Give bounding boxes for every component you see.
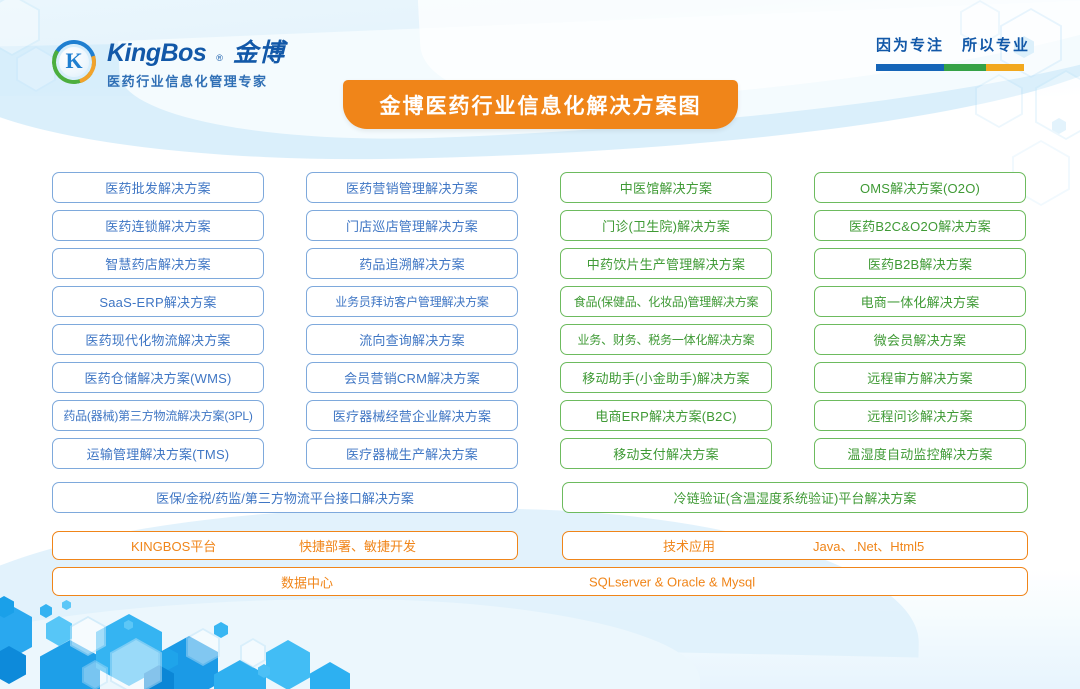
solution-cell-wide[interactable]: 冷链验证(含温湿度系统验证)平台解决方案: [562, 482, 1028, 513]
solution-map-poster: K KingBos ® 金博 医药行业信息化管理专家 因为专注 所以专业 金博医…: [0, 0, 1080, 689]
solution-cell[interactable]: 远程问诊解决方案: [814, 400, 1026, 431]
solution-cell[interactable]: 业务员拜访客户管理解决方案: [306, 286, 518, 317]
foundation-row-1: KINGBOS平台 快捷部署、敏捷开发 技术应用 Java、.Net、Html5: [52, 531, 1028, 560]
solution-cell[interactable]: SaaS-ERP解决方案: [52, 286, 264, 317]
solution-cell[interactable]: 电商一体化解决方案: [814, 286, 1026, 317]
slogan-part-1: 因为专注: [876, 34, 944, 55]
solution-cell[interactable]: 门诊(卫生院)解决方案: [560, 210, 772, 241]
kingbos-logo-icon: K: [52, 40, 96, 84]
solution-cell[interactable]: 医药B2B解决方案: [814, 248, 1026, 279]
solution-cell[interactable]: 医药仓储解决方案(WMS): [52, 362, 264, 393]
solution-cell[interactable]: 智慧药店解决方案: [52, 248, 264, 279]
solution-cell[interactable]: 电商ERP解决方案(B2C): [560, 400, 772, 431]
solution-cell[interactable]: 医药现代化物流解决方案: [52, 324, 264, 355]
solution-cell[interactable]: 药品(器械)第三方物流解决方案(3PL): [52, 400, 264, 431]
solution-cell[interactable]: 医药批发解决方案: [52, 172, 264, 203]
slogan-block: 因为专注 所以专业: [876, 34, 1030, 71]
brand-name-latin: KingBos: [107, 39, 206, 68]
slogan-part-2: 所以专业: [962, 34, 1030, 55]
foundation-label: 数据中心: [281, 572, 333, 591]
page-title-banner: 金博医药行业信息化解决方案图: [343, 80, 738, 129]
solution-cell[interactable]: 医药营销管理解决方案: [306, 172, 518, 203]
foundation-value: 快捷部署、敏捷开发: [299, 536, 416, 555]
foundation-label: 技术应用: [663, 536, 715, 555]
solution-cell[interactable]: 会员营销CRM解决方案: [306, 362, 518, 393]
solution-cell[interactable]: 食品(保健品、化妆品)管理解决方案: [560, 286, 772, 317]
logo-letter: K: [65, 50, 82, 72]
solution-cell[interactable]: 业务、财务、税务一体化解决方案: [560, 324, 772, 355]
foundation-platform-box[interactable]: KINGBOS平台 快捷部署、敏捷开发: [52, 531, 518, 560]
platform-interface-row: 医保/金税/药监/第三方物流平台接口解决方案 冷链验证(含温湿度系统验证)平台解…: [52, 482, 1028, 513]
solution-column-2: 医药营销管理解决方案 门店巡店管理解决方案 药品追溯解决方案 业务员拜访客户管理…: [306, 172, 518, 469]
solution-cell[interactable]: 运输管理解决方案(TMS): [52, 438, 264, 469]
solution-cell[interactable]: 温湿度自动监控解决方案: [814, 438, 1026, 469]
solution-cell[interactable]: 药品追溯解决方案: [306, 248, 518, 279]
solution-cell[interactable]: 医疗器械经营企业解决方案: [306, 400, 518, 431]
solution-cell[interactable]: 移动支付解决方案: [560, 438, 772, 469]
foundation-datacenter-box[interactable]: 数据中心 SQLserver & Oracle & Mysql: [52, 567, 1028, 596]
solution-cell-wide[interactable]: 医保/金税/药监/第三方物流平台接口解决方案: [52, 482, 518, 513]
footer-wave-2: [0, 599, 700, 689]
foundation-value: Java、.Net、Html5: [813, 536, 924, 555]
solution-cell[interactable]: 移动助手(小金助手)解决方案: [560, 362, 772, 393]
solution-column-1: 医药批发解决方案 医药连锁解决方案 智慧药店解决方案 SaaS-ERP解决方案 …: [52, 172, 264, 469]
solution-column-4: OMS解决方案(O2O) 医药B2C&O2O解决方案 医药B2B解决方案 电商一…: [814, 172, 1026, 469]
solution-cell[interactable]: 流向查询解决方案: [306, 324, 518, 355]
foundation-label: KINGBOS平台: [131, 536, 216, 555]
solution-cell[interactable]: 中药饮片生产管理解决方案: [560, 248, 772, 279]
brand-tagline: 医药行业信息化管理专家: [107, 71, 285, 90]
solution-cell[interactable]: 中医馆解决方案: [560, 172, 772, 203]
solution-cell[interactable]: 医疗器械生产解决方案: [306, 438, 518, 469]
brand-logo: K KingBos ® 金博 医药行业信息化管理专家: [52, 33, 285, 90]
brand-name-chinese: 金博: [233, 33, 285, 69]
foundation-tech-box[interactable]: 技术应用 Java、.Net、Html5: [562, 531, 1028, 560]
solution-column-3: 中医馆解决方案 门诊(卫生院)解决方案 中药饮片生产管理解决方案 食品(保健品、…: [560, 172, 772, 469]
solution-grid: 医药批发解决方案 医药连锁解决方案 智慧药店解决方案 SaaS-ERP解决方案 …: [52, 172, 1028, 469]
solution-cell[interactable]: 远程审方解决方案: [814, 362, 1026, 393]
solution-cell[interactable]: OMS解决方案(O2O): [814, 172, 1026, 203]
solution-cell[interactable]: 医药B2C&O2O解决方案: [814, 210, 1026, 241]
slogan-color-bar: [876, 64, 1024, 71]
registered-trademark-icon: ®: [216, 53, 223, 63]
solution-cell[interactable]: 门店巡店管理解决方案: [306, 210, 518, 241]
page-title: 金博医药行业信息化解决方案图: [380, 90, 702, 120]
solution-cell[interactable]: 微会员解决方案: [814, 324, 1026, 355]
solution-cell[interactable]: 医药连锁解决方案: [52, 210, 264, 241]
foundation-value: SQLserver & Oracle & Mysql: [589, 574, 755, 589]
